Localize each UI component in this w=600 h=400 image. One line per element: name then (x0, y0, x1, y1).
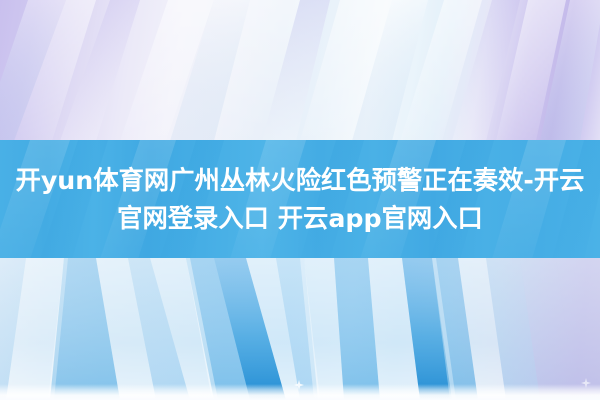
banner-image: 开yun体育网广州丛林火险红色预警正在奏效-开云 官网登录入口 开云app官网入… (0, 0, 600, 400)
sparkle-icon (292, 380, 306, 390)
headline-block: 开yun体育网广州丛林火险红色预警正在奏效-开云 官网登录入口 开云app官网入… (0, 140, 600, 259)
top-gradient-section (0, 0, 600, 141)
headline-line-2: 官网登录入口 开云app官网入口 (117, 201, 483, 237)
bottom-prism-facets (0, 258, 600, 400)
corner-sparkle-icon (580, 378, 592, 388)
top-prism-facets (0, 0, 600, 141)
headline-line-1: 开yun体育网广州丛林火险红色预警正在奏效-开云 (16, 163, 585, 199)
bottom-gradient-section (0, 258, 600, 400)
blue-headline-band: 开yun体育网广州丛林火险红色预警正在奏效-开云 官网登录入口 开云app官网入… (0, 140, 600, 259)
